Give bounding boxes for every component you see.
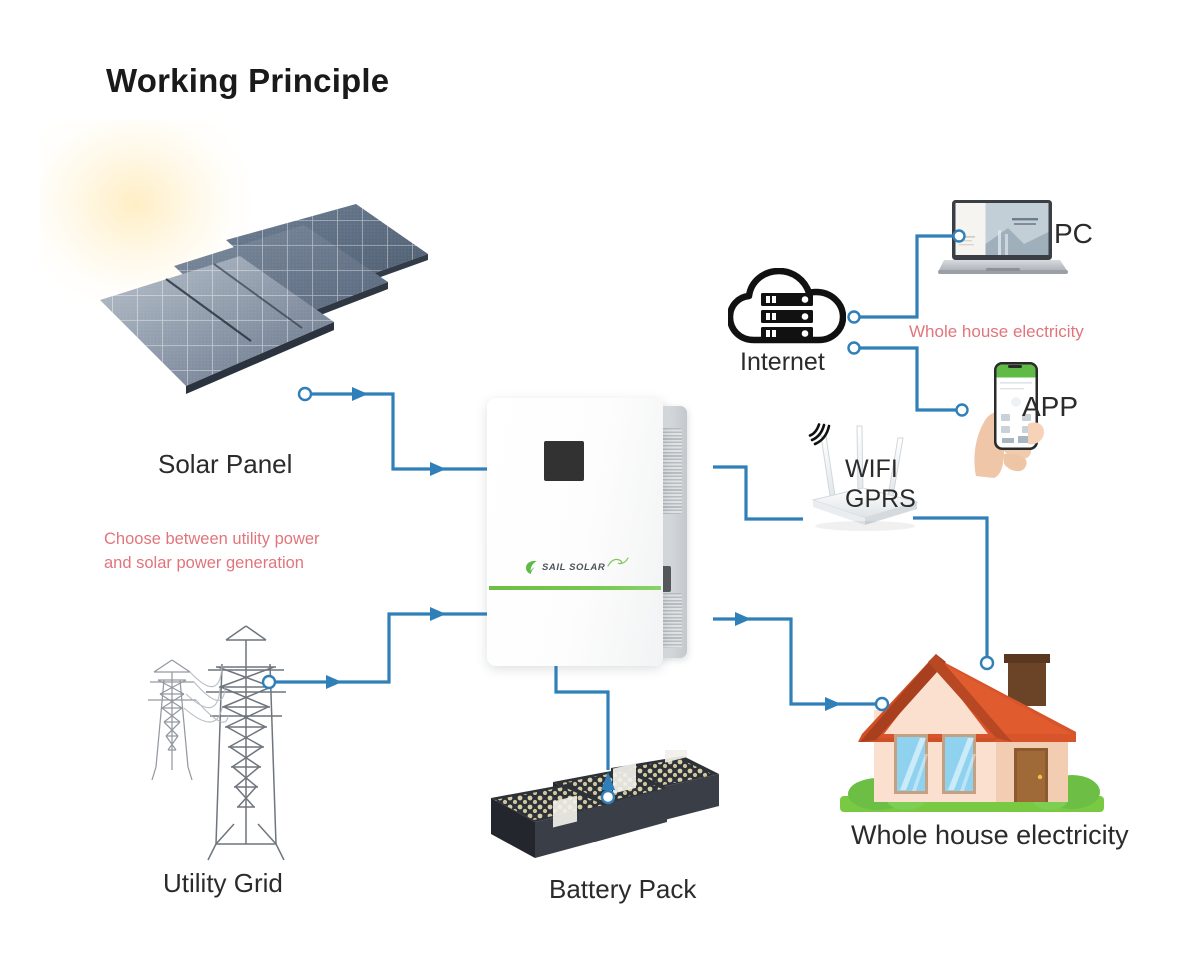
diagram-canvas: Working Principle xyxy=(0,0,1200,969)
choose-power-note-line2: and solar power generation xyxy=(104,552,320,576)
solar-panel-label: Solar Panel xyxy=(158,449,292,480)
battery-pack-label: Battery Pack xyxy=(549,874,696,905)
house-label: Whole house electricity xyxy=(851,820,1129,851)
whole-house-note: Whole house electricity xyxy=(909,320,1084,345)
choose-power-note: Choose between utility power and solar p… xyxy=(104,528,320,576)
choose-power-note-line1: Choose between utility power xyxy=(104,528,320,552)
utility-grid-label: Utility Grid xyxy=(163,868,283,899)
